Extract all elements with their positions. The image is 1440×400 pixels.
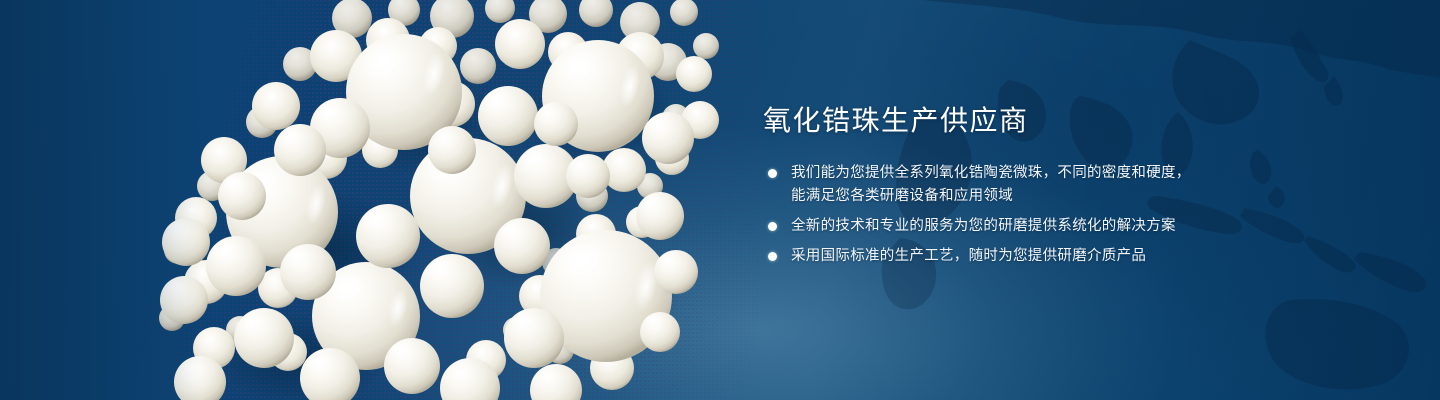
- bullet-dot-icon: [768, 169, 777, 178]
- bullet-dot-icon: [768, 222, 777, 231]
- feature-line: 全新的技术和专业的服务为您的研磨提供系统化的解决方案: [791, 215, 1323, 238]
- feature-line: 我们能为您提供全系列氧化锆陶瓷微珠，不同的密度和硬度，: [791, 162, 1323, 185]
- zirconia-beads-image: [0, 0, 760, 400]
- banner-copy: 氧化锆珠生产供应商 我们能为您提供全系列氧化锆陶瓷微珠，不同的密度和硬度， 能满…: [763, 104, 1323, 268]
- banner-headline: 氧化锆珠生产供应商: [763, 104, 1323, 138]
- hero-banner: 氧化锆珠生产供应商 我们能为您提供全系列氧化锆陶瓷微珠，不同的密度和硬度， 能满…: [0, 0, 1440, 400]
- bullet-dot-icon: [768, 252, 777, 261]
- feature-line: 能满足您各类研磨设备和应用领域: [791, 185, 1323, 208]
- list-item: 全新的技术和专业的服务为您的研磨提供系统化的解决方案: [763, 215, 1323, 238]
- list-item: 采用国际标准的生产工艺，随时为您提供研磨介质产品: [763, 245, 1323, 268]
- feature-list: 我们能为您提供全系列氧化锆陶瓷微珠，不同的密度和硬度， 能满足您各类研磨设备和应…: [763, 162, 1323, 268]
- list-item: 我们能为您提供全系列氧化锆陶瓷微珠，不同的密度和硬度， 能满足您各类研磨设备和应…: [763, 162, 1323, 208]
- feature-line: 采用国际标准的生产工艺，随时为您提供研磨介质产品: [791, 245, 1323, 268]
